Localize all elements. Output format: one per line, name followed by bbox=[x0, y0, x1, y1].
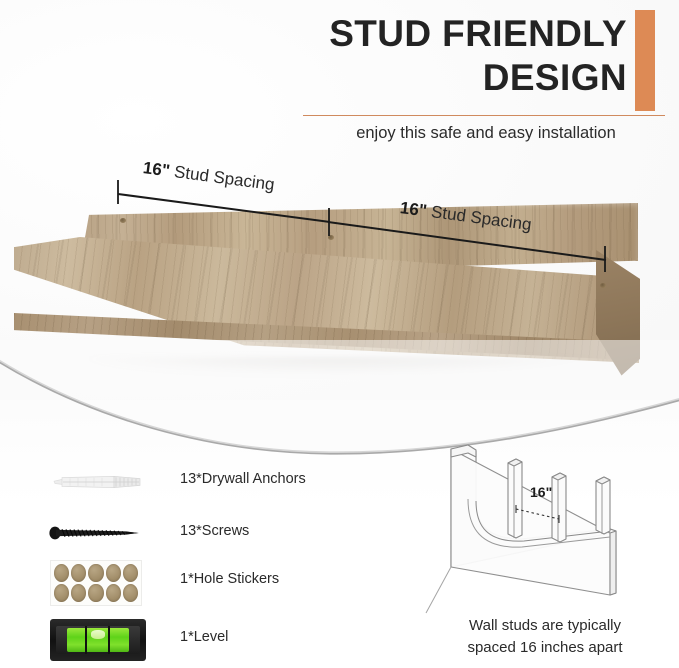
dimension-value-right: 16" bbox=[399, 198, 428, 220]
dimension-line-left bbox=[118, 194, 330, 222]
dimension-annotations: 16" Stud Spacing 16" Stud Spacing bbox=[0, 150, 679, 295]
list-item-label: 1*Level bbox=[180, 629, 228, 645]
list-item-label: 1*Hole Stickers bbox=[180, 571, 279, 587]
title-divider-rule bbox=[303, 115, 665, 116]
page-title: STUD FRIENDLY DESIGN bbox=[327, 12, 627, 100]
list-item-label: 13*Drywall Anchors bbox=[180, 471, 306, 487]
dimension-value-left: 16" bbox=[142, 158, 171, 180]
title-line-2: DESIGN bbox=[327, 56, 627, 100]
drywall-anchor-icon bbox=[44, 458, 154, 506]
sticker-dot bbox=[106, 584, 121, 602]
list-item-label: 13*Screws bbox=[180, 523, 249, 539]
sticker-dot bbox=[54, 584, 69, 602]
orange-accent-bar bbox=[635, 10, 655, 111]
level-vial bbox=[67, 628, 129, 652]
sticker-dot bbox=[123, 584, 138, 602]
caption-line-2: spaced 16 inches apart bbox=[420, 637, 670, 659]
screw-icon bbox=[44, 510, 154, 558]
sticker-dot bbox=[123, 564, 138, 582]
dimension-line-right bbox=[328, 222, 606, 260]
title-line-1: STUD FRIENDLY bbox=[327, 12, 627, 56]
level-index-mark bbox=[85, 626, 87, 654]
hole-stickers-icon bbox=[44, 558, 154, 606]
sticker-dot bbox=[54, 564, 69, 582]
sticker-dot bbox=[71, 564, 86, 582]
sticker-dot bbox=[71, 584, 86, 602]
list-item: 13*Drywall Anchors bbox=[30, 458, 390, 506]
list-item: 1*Hole Stickers bbox=[30, 558, 390, 606]
level-bubble bbox=[91, 630, 106, 639]
studs-diagram-caption: Wall studs are typically spaced 16 inche… bbox=[420, 615, 670, 659]
caption-line-1: Wall studs are typically bbox=[420, 615, 670, 637]
sticker-dot bbox=[106, 564, 121, 582]
header-subtitle: enjoy this safe and easy installation bbox=[300, 124, 672, 143]
level-index-mark bbox=[108, 626, 110, 654]
list-item: 1*Level bbox=[30, 616, 390, 664]
sticker-dot bbox=[88, 584, 103, 602]
studs-dimension-label: 16" bbox=[530, 484, 552, 500]
wall-studs-diagram: 16" bbox=[420, 435, 679, 615]
parts-list: 13*Drywall Anchors 1 bbox=[30, 450, 390, 665]
list-item: 13*Screws bbox=[30, 510, 390, 558]
level-icon bbox=[44, 616, 154, 664]
sticker-dot bbox=[88, 564, 103, 582]
